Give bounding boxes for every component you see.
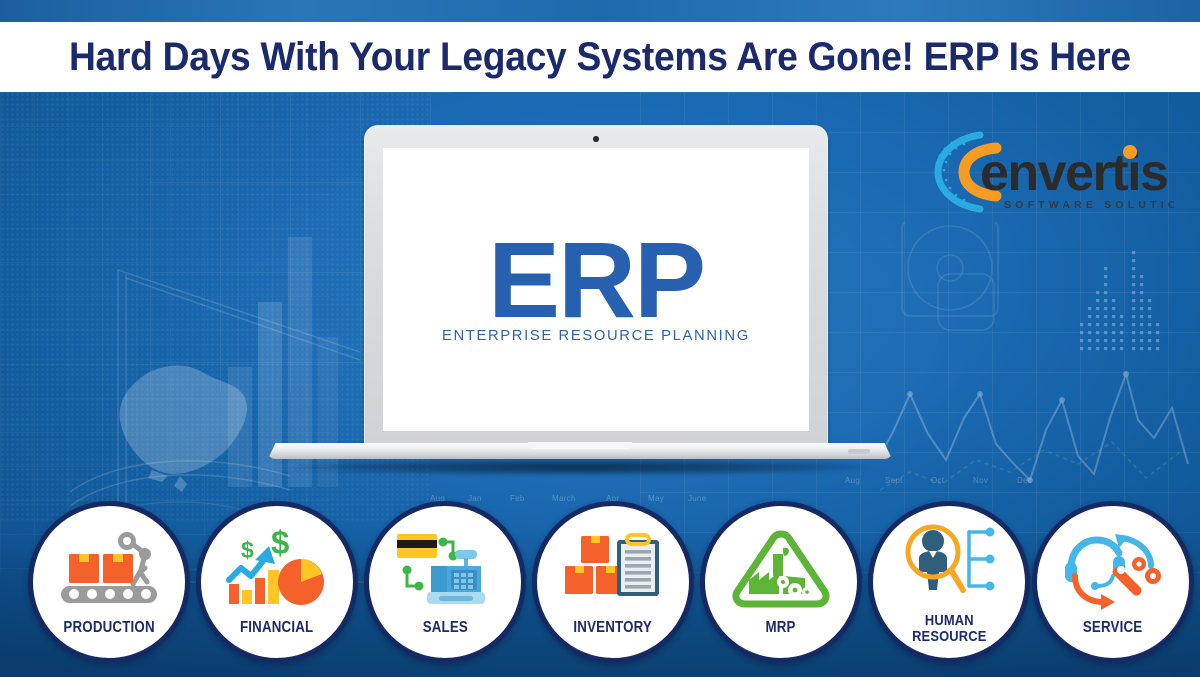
credit-card-cash-register-icon: [395, 532, 495, 606]
module-label: INVENTORY: [574, 620, 653, 636]
module-label: SALES: [422, 620, 467, 636]
laptop-port: [848, 449, 870, 454]
module-financial[interactable]: $ $ FINANCIAL: [196, 501, 358, 663]
module-label: HUMAN RESOURCE: [912, 613, 986, 644]
background-bar-shape: [228, 367, 252, 487]
svg-text:envertis: envertis: [980, 144, 1167, 202]
boxes-clipboard-icon: [563, 532, 663, 606]
envertis-logo[interactable]: envertis SOFTWARE SOLUTIONS: [922, 126, 1174, 216]
module-label: MRP: [766, 620, 796, 636]
svg-text:$: $: [241, 537, 254, 563]
australia-map-icon: [92, 352, 264, 502]
erp-title: ERP: [488, 235, 704, 326]
headset-wrench-gears-icon: [1063, 532, 1163, 606]
headline-band: Hard Days With Your Legacy Systems Are G…: [0, 22, 1200, 92]
laptop-screen: ERP ENTERPRISE RESOURCE PLANNING: [383, 148, 809, 431]
banner-stage: Aug Jan Feb March Apr May June Aug Sept …: [0, 0, 1200, 677]
laptop-mockup: ERP ENTERPRISE RESOURCE PLANNING: [268, 125, 892, 475]
module-mrp[interactable]: MRP: [700, 501, 862, 663]
disc-shape-icon: [900, 222, 1010, 342]
top-accent-strip: [0, 0, 1200, 22]
module-label: FINANCIAL: [240, 620, 313, 636]
module-label: PRODUCTION: [63, 620, 154, 636]
line-chart-shape: [880, 360, 1200, 510]
bar-chart-dollar-pie-icon: $ $: [227, 532, 327, 606]
svg-text:SOFTWARE SOLUTIONS: SOFTWARE SOLUTIONS: [1004, 199, 1174, 211]
svg-text:$: $: [271, 524, 289, 561]
module-icon-row: PRODUCTION $ $: [0, 497, 1200, 677]
conveyor-robot-arm-icon: [59, 532, 159, 606]
person-magnifier-orgchart-icon: [899, 524, 999, 598]
background-month-labels: Aug Sept Oct Nov Dec: [845, 476, 1175, 490]
module-sales[interactable]: SALES: [364, 501, 526, 663]
erp-subtitle: ENTERPRISE RESOURCE PLANNING: [442, 328, 750, 344]
factory-gears-triangle-icon: [731, 532, 831, 606]
laptop-hinge-notch: [528, 442, 632, 449]
module-production[interactable]: PRODUCTION: [28, 501, 190, 663]
page-title: Hard Days With Your Legacy Systems Are G…: [69, 35, 1131, 80]
module-label: SERVICE: [1083, 620, 1142, 636]
module-human-resource[interactable]: HUMAN RESOURCE: [868, 501, 1030, 663]
laptop-shadow: [292, 459, 868, 475]
laptop-lid: ERP ENTERPRISE RESOURCE PLANNING: [364, 125, 828, 450]
dotted-bar-chart-shape: [1078, 245, 1190, 363]
module-service[interactable]: SERVICE: [1032, 501, 1194, 663]
webcam-dot-icon: [593, 136, 599, 142]
module-inventory[interactable]: INVENTORY: [532, 501, 694, 663]
